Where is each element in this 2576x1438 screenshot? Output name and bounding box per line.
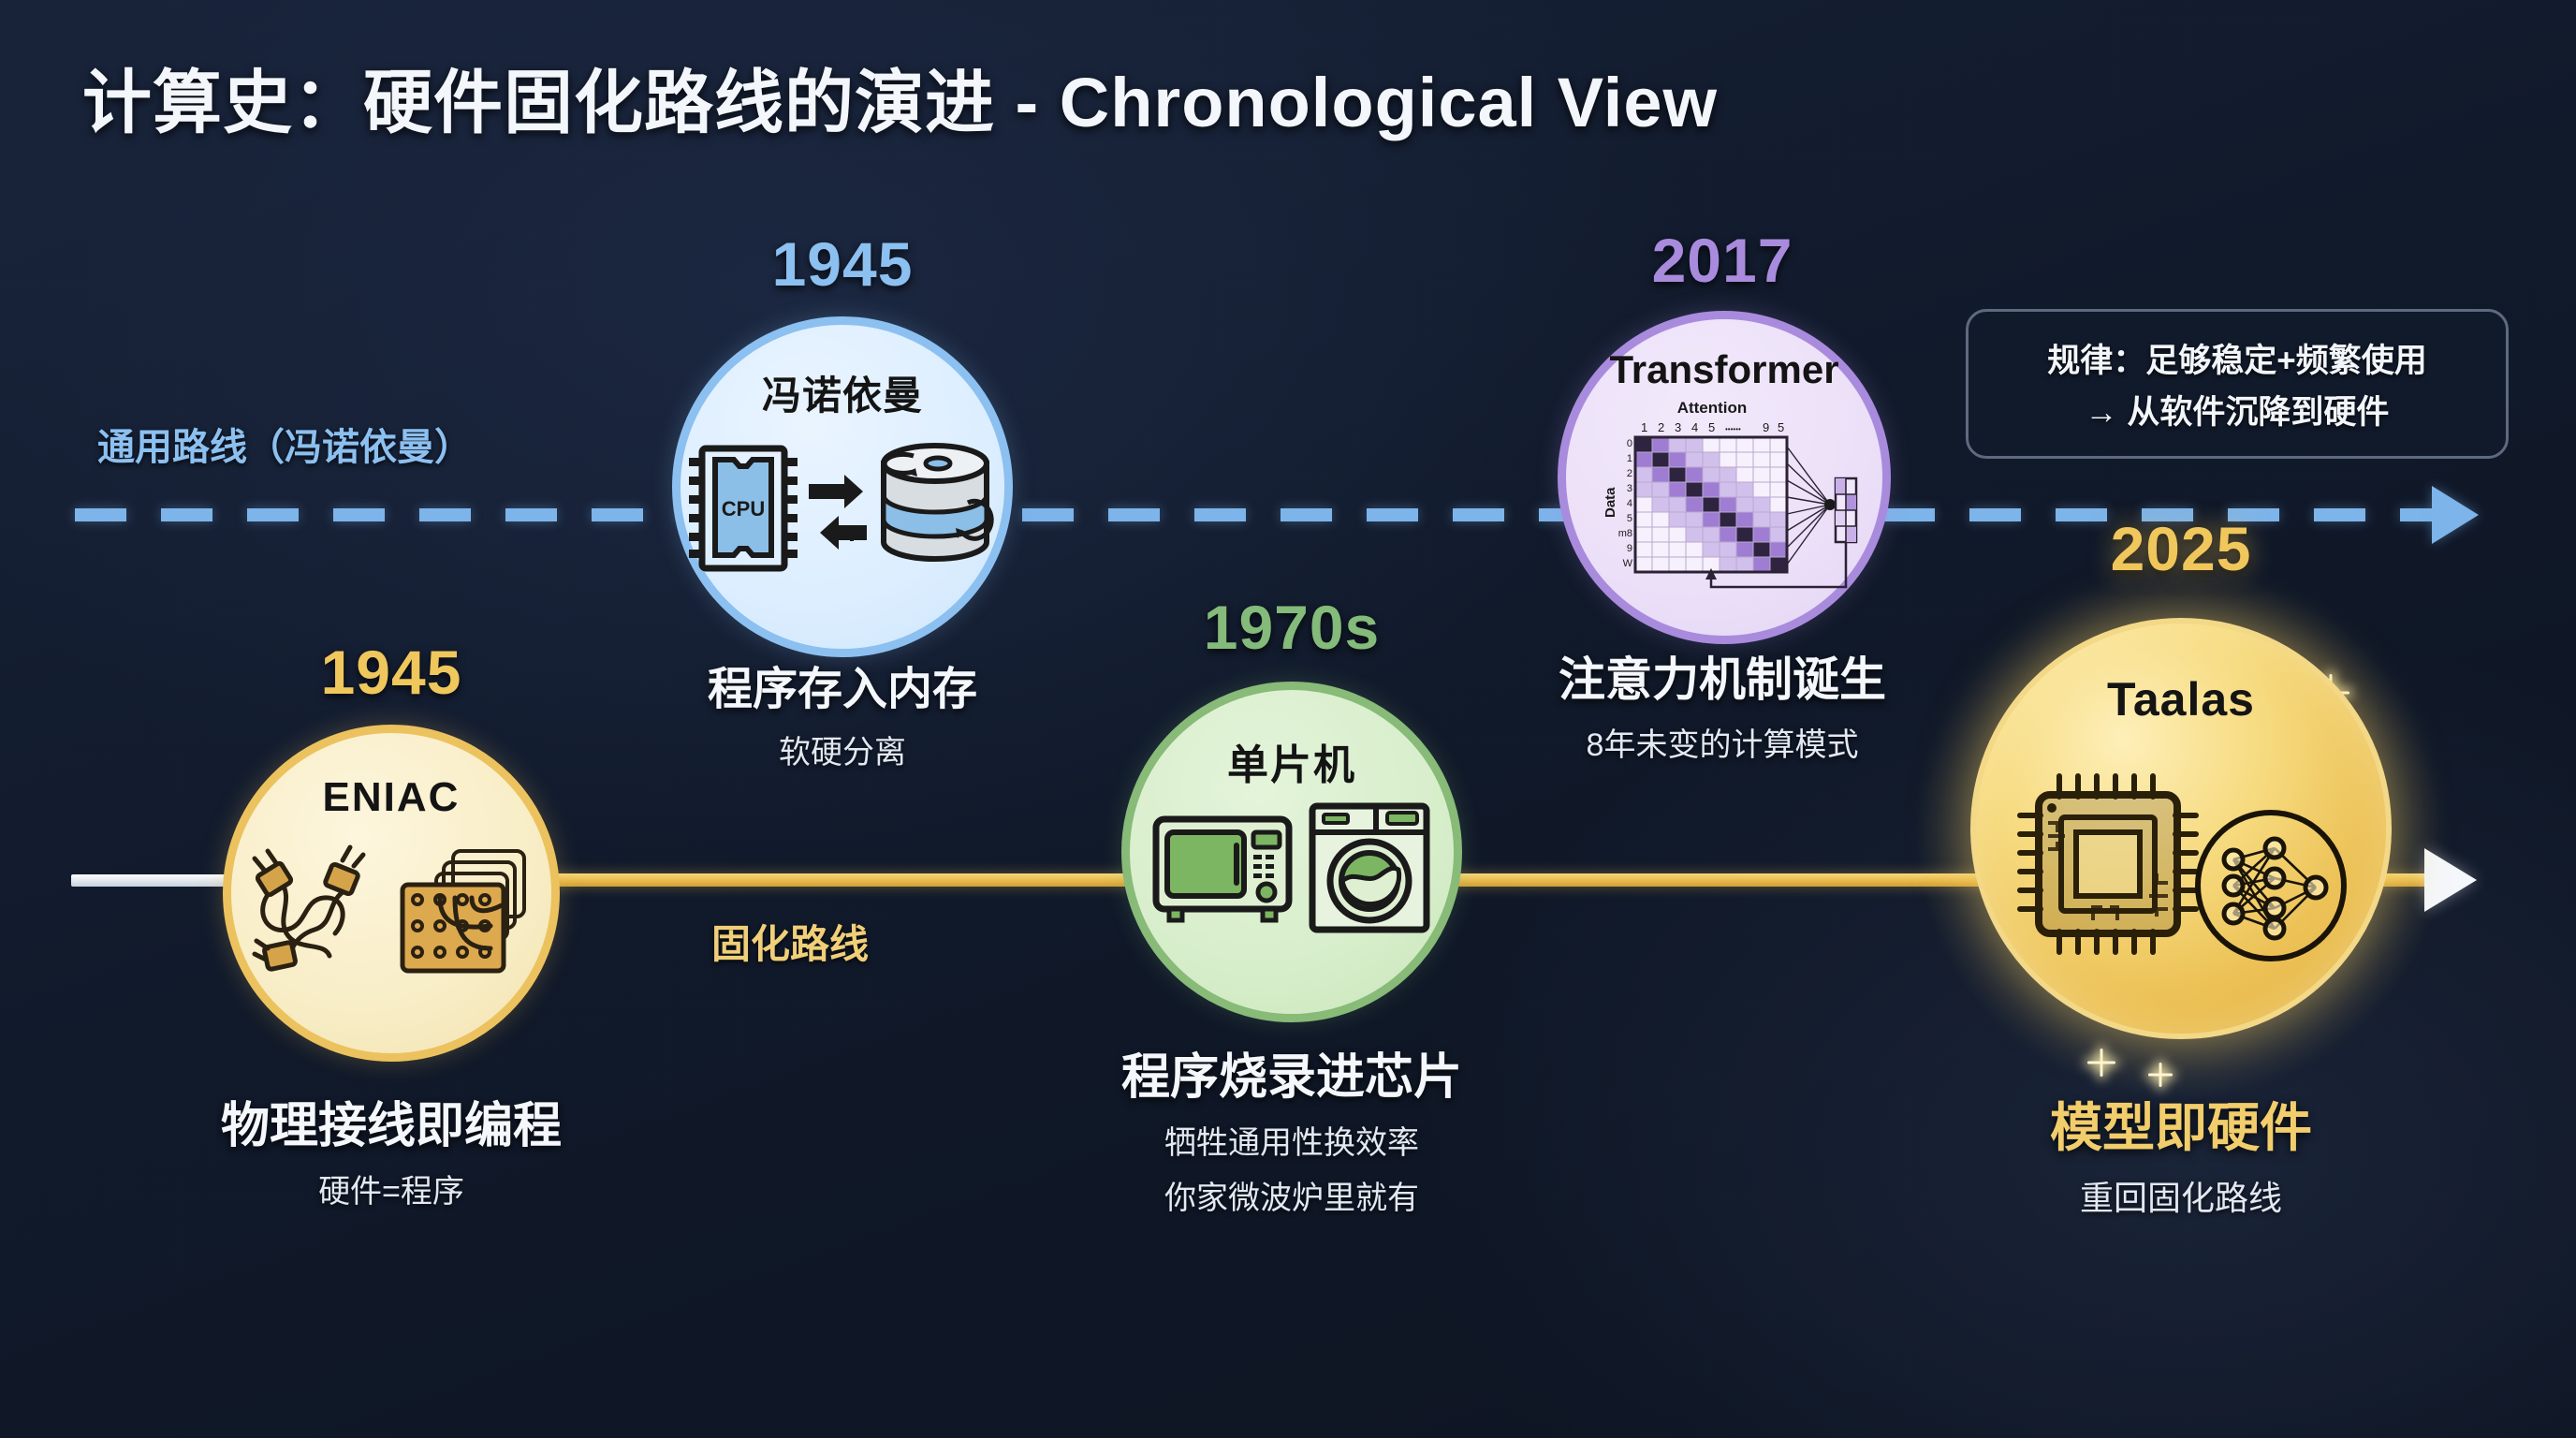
node-year-von-neumann: 1945: [655, 228, 1030, 300]
node-bubble-title-mcu: 单片机: [1227, 731, 1356, 791]
node-bubble-taalas[interactable]: Taalas: [1970, 618, 2392, 1039]
attention-diagram-top-label: Attention: [1677, 399, 1748, 417]
data-flow-arrows-icon: [805, 456, 871, 559]
node-year-transformer: 2017: [1535, 225, 1910, 296]
node-caption-eniac: 物理接线即编程 硬件=程序: [92, 1086, 691, 1211]
memory-cylinder-icon: [876, 437, 998, 578]
attention-matrix-icon: Attention 123 45 •••••• 95 Data 012 345 …: [1588, 398, 1860, 599]
cable-plug-icon: [249, 844, 380, 984]
node-caption-sub-taalas: 重回固化路线: [1853, 1171, 2509, 1220]
node-year-eniac: 1945: [213, 637, 569, 708]
node-caption-taalas: 模型即硬件 重回固化路线: [1853, 1086, 2509, 1220]
node-caption-sub-von-neumann: 软硬分离: [543, 726, 1142, 772]
svg-text:m8: m8: [1618, 528, 1632, 539]
processor-die-icon: [2014, 770, 2202, 958]
attention-diagram-right-label: Attention: [1857, 512, 1860, 565]
node-bubble-title-eniac: ENIAC: [323, 774, 461, 821]
svg-text:0: 0: [1627, 438, 1632, 449]
svg-text:1: 1: [1627, 453, 1632, 464]
svg-text:5: 5: [1708, 420, 1715, 434]
node-caption-transformer: 注意力机制诞生 8年未变的计算模式: [1423, 642, 2022, 765]
node-bubble-mcu[interactable]: 单片机: [1121, 682, 1462, 1022]
node-bubble-transformer[interactable]: Transformer Attention 123 45 •••••• 95 D…: [1558, 311, 1891, 644]
page-title: 计算史：硬件固化路线的演进 - Chronological View: [82, 47, 2329, 147]
law-callout-box: 规律：足够稳定+频繁使用 → 从软件沉降到硬件: [1966, 309, 2509, 459]
svg-text:9: 9: [1763, 420, 1769, 434]
law-line-1: 规律：足够稳定+频繁使用: [2047, 334, 2426, 382]
svg-text:5: 5: [1778, 420, 1784, 434]
node-caption-sub2-mcu: 你家微波炉里就有: [992, 1172, 1591, 1218]
attention-diagram-left-label: Data: [1603, 487, 1618, 518]
svg-text:W: W: [1623, 558, 1633, 569]
node-bubble-title-von-neumann: 冯诺依曼: [762, 364, 923, 421]
node-bubble-von-neumann[interactable]: 冯诺依曼 CPU: [672, 316, 1013, 657]
hardened-route-label: 固化路线: [711, 913, 869, 970]
node-caption-heading-taalas: 模型即硬件: [1853, 1086, 2509, 1162]
node-year-taalas: 2025: [1947, 513, 2415, 584]
node-caption-sub-mcu: 牺牲通用性换效率: [992, 1117, 1591, 1163]
node-caption-mcu: 程序烧录进芯片 牺牲通用性换效率 你家微波炉里就有: [992, 1037, 1591, 1218]
node-bubble-title-transformer: Transformer: [1609, 347, 1838, 392]
svg-text:4: 4: [1691, 420, 1698, 434]
svg-text:5: 5: [1627, 513, 1632, 524]
node-caption-heading-mcu: 程序烧录进芯片: [992, 1037, 1591, 1108]
law-line-2: → 从软件沉降到硬件: [2086, 386, 2390, 433]
svg-text:3: 3: [1627, 483, 1632, 494]
svg-text:4: 4: [1627, 498, 1632, 509]
node-bubble-eniac[interactable]: ENIAC: [223, 725, 560, 1062]
svg-text:••••••: ••••••: [1725, 425, 1741, 433]
patch-board-icon: [393, 844, 534, 984]
universal-route-label: 通用路线（冯诺依曼）: [97, 417, 472, 471]
node-caption-heading-transformer: 注意力机制诞生: [1423, 642, 2022, 710]
microwave-icon: [1150, 808, 1295, 930]
svg-text:2: 2: [1627, 468, 1632, 479]
svg-text:1: 1: [1641, 420, 1647, 434]
cpu-chip-icon: CPU: [687, 437, 799, 578]
node-caption-heading-eniac: 物理接线即编程: [92, 1086, 691, 1156]
svg-text:3: 3: [1675, 420, 1681, 434]
node-caption-sub-eniac: 硬件=程序: [92, 1166, 691, 1211]
node-caption-heading-von-neumann: 程序存入内存: [543, 652, 1142, 717]
universal-timeline-arrow-icon: [2432, 486, 2479, 544]
washing-machine-icon: [1307, 800, 1433, 936]
node-caption-von-neumann: 程序存入内存 软硬分离: [543, 652, 1142, 772]
svg-text:CPU: CPU: [722, 497, 765, 521]
node-bubble-title-taalas: Taalas: [2107, 672, 2255, 726]
svg-text:9: 9: [1627, 543, 1632, 554]
neural-network-icon: [2194, 809, 2349, 963]
svg-text:2: 2: [1658, 420, 1664, 434]
